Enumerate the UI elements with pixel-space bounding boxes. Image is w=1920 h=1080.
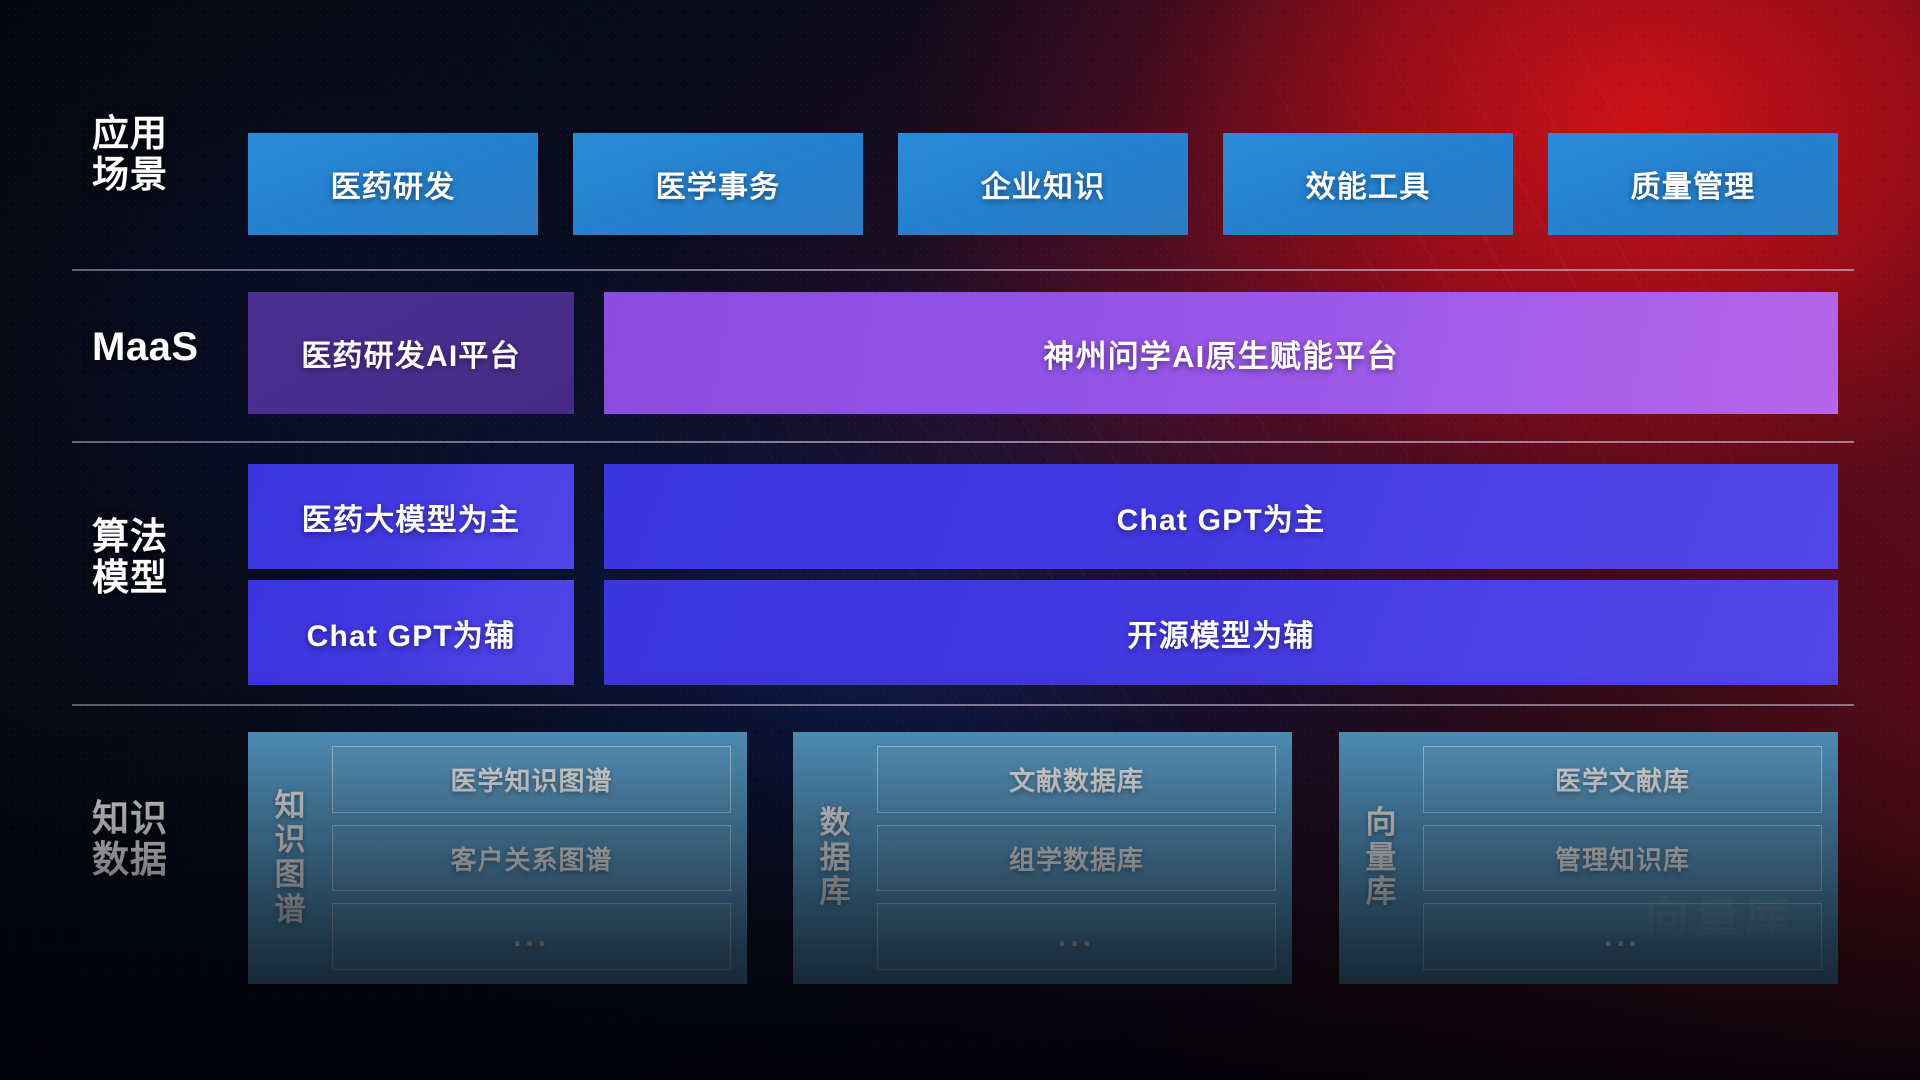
maas-box-label: 医药研发AI平台 [301,331,521,375]
row-label-algorithm-model: 算法 模型 [92,516,242,599]
algo-box-chatgpt-primary[interactable]: Chat GPT为主 [604,464,1838,569]
maas-box-label: 神州问学AI原生赋能平台 [1043,331,1398,376]
algo-box-label: Chat GPT为主 [1117,495,1326,539]
knowledge-panel-vertical-label: 知识图谱 [262,746,318,970]
algo-box-label: 医药大模型为主 [302,495,520,539]
knowledge-item[interactable]: 管理知识库 [1423,825,1822,892]
knowledge-item[interactable]: 医学知识图谱 [332,746,731,813]
knowledge-item[interactable]: 客户关系图谱 [332,825,731,892]
row-label-maas: MaaS [92,325,242,370]
knowledge-panel-vertical-label: 向量库 [1353,746,1409,970]
app-box-label: 效能工具 [1306,162,1431,206]
app-box-enterprise-knowledge[interactable]: 企业知识 [898,133,1188,235]
divider-algorithm-knowledge [72,704,1854,706]
maas-box-shenzhou-wenxue-platform[interactable]: 神州问学AI原生赋能平台 [604,292,1838,414]
knowledge-item-more[interactable]: ... [877,903,1276,970]
knowledge-item-more[interactable]: ... [1423,903,1822,970]
knowledge-panel-vertical-label: 数据库 [807,746,863,970]
knowledge-panel-database[interactable]: 数据库 文献数据库 组学数据库 ... [793,732,1292,984]
knowledge-panel-vector-database[interactable]: 向量库 医学文献库 管理知识库 ... [1339,732,1838,984]
app-box-label: 企业知识 [981,162,1106,206]
app-box-label: 医药研发 [331,162,456,206]
knowledge-item-more[interactable]: ... [332,903,731,970]
knowledge-item[interactable]: 医学文献库 [1423,746,1822,813]
app-box-pharma-rd[interactable]: 医药研发 [248,133,538,235]
app-box-quality-management[interactable]: 质量管理 [1548,133,1838,235]
divider-maas-algorithm [72,441,1854,443]
app-box-label: 质量管理 [1631,162,1756,206]
algo-box-label: 开源模型为辅 [1127,611,1314,655]
algo-box-label: Chat GPT为辅 [307,611,516,655]
knowledge-panel-knowledge-graph[interactable]: 知识图谱 医学知识图谱 客户关系图谱 ... [248,732,747,984]
maas-box-pharma-ai-platform[interactable]: 医药研发AI平台 [248,292,574,414]
knowledge-item[interactable]: 组学数据库 [877,825,1276,892]
algo-box-chatgpt-secondary[interactable]: Chat GPT为辅 [248,580,574,685]
row-label-knowledge-data: 知识 数据 [92,798,242,881]
row-label-application-scenario: 应用 场景 [92,113,242,196]
app-box-label: 医学事务 [656,162,781,206]
app-box-efficiency-tools[interactable]: 效能工具 [1223,133,1513,235]
diagram-canvas: 应用 场景 医药研发 医学事务 企业知识 效能工具 质量管理 MaaS 医药研发… [0,0,1920,1080]
app-box-medical-affairs[interactable]: 医学事务 [573,133,863,235]
knowledge-item[interactable]: 文献数据库 [877,746,1276,813]
algo-box-pharma-llm-primary[interactable]: 医药大模型为主 [248,464,574,569]
algo-box-opensource-secondary[interactable]: 开源模型为辅 [604,580,1838,685]
divider-application-maas [72,269,1854,271]
